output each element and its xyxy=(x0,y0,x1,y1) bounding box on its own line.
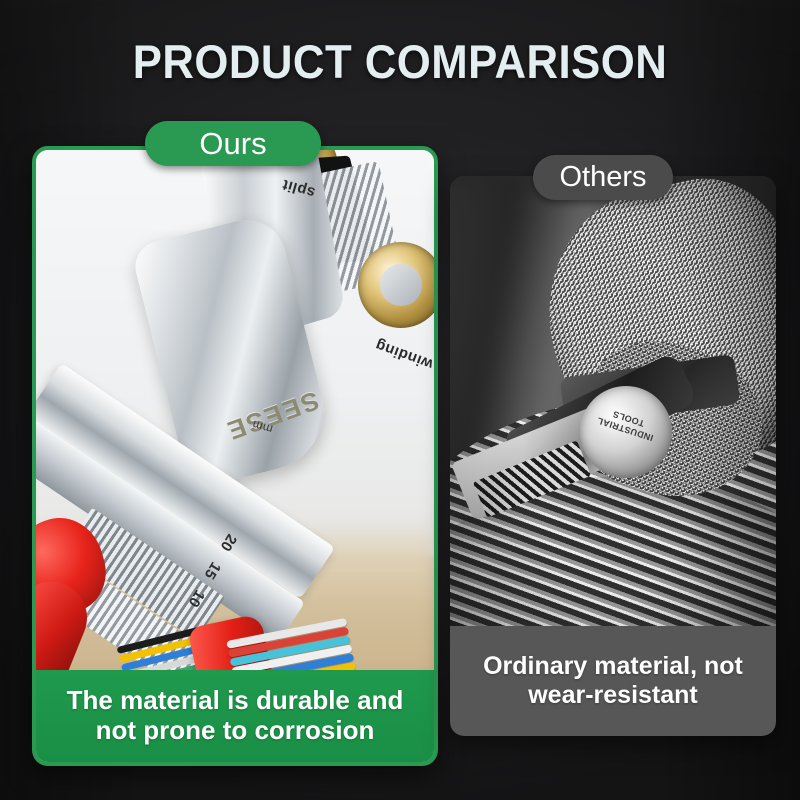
badge-ours[interactable]: Ours xyxy=(145,121,321,166)
ours-product-photo: SEESE split winding xyxy=(36,150,434,670)
gold-ring-lower xyxy=(358,242,434,328)
panel-ours[interactable]: SEESE split winding xyxy=(32,146,438,766)
others-caption: Ordinary material, not wear-resistant xyxy=(450,626,776,736)
badge-others[interactable]: Others xyxy=(533,155,673,200)
page-title: PRODUCT COMPARISON xyxy=(28,34,772,89)
cross-slot-icon xyxy=(384,268,418,302)
panel-others[interactable]: INDUSTRIAL TOOLS Ordinary material, not … xyxy=(450,176,776,736)
ours-caption: The material is durable and not prone to… xyxy=(36,670,434,762)
comparison-graphic: PRODUCT COMPARISON SEESE split winding xyxy=(0,0,800,800)
